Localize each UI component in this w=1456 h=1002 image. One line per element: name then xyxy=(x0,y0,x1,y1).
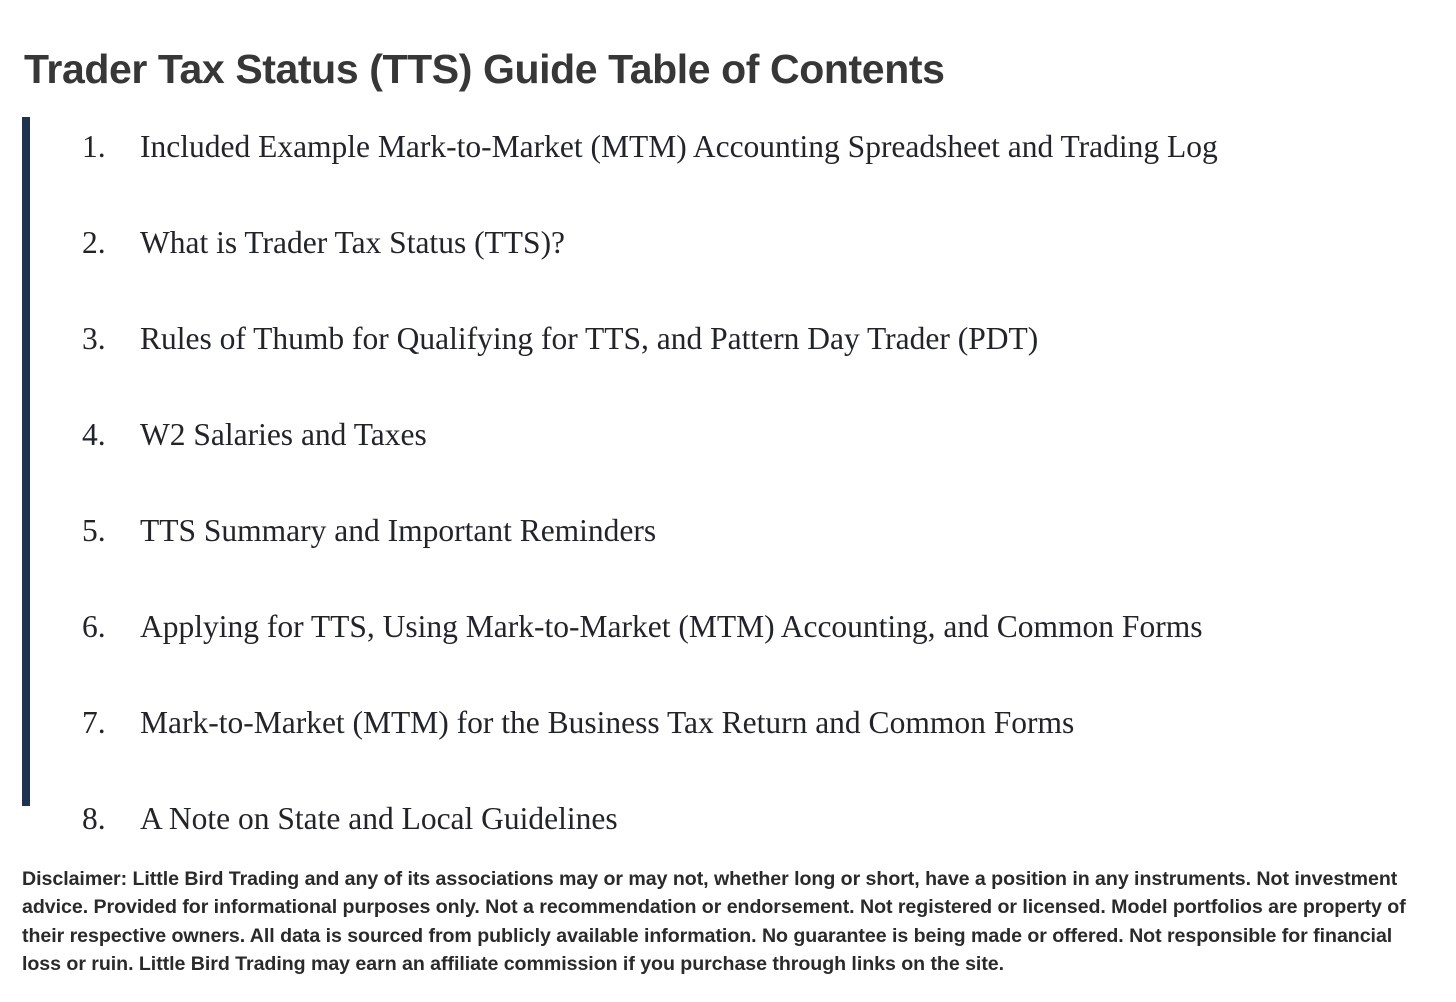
list-item-number: 3. xyxy=(82,309,120,369)
list-item-number: 6. xyxy=(82,597,120,657)
table-of-contents-list: 1. Included Example Mark-to-Market (MTM)… xyxy=(82,117,1412,849)
list-item[interactable]: 8. A Note on State and Local Guidelines xyxy=(82,789,1412,849)
table-of-contents-block: 1. Included Example Mark-to-Market (MTM)… xyxy=(0,117,1456,807)
list-item-number: 4. xyxy=(82,405,120,465)
list-item[interactable]: 7. Mark-to-Market (MTM) for the Business… xyxy=(82,693,1412,753)
disclaimer-text: Disclaimer: Little Bird Trading and any … xyxy=(22,865,1436,979)
list-item-label: Rules of Thumb for Qualifying for TTS, a… xyxy=(140,309,1412,369)
list-item-label: W2 Salaries and Taxes xyxy=(140,405,1412,465)
list-item-label: Included Example Mark-to-Market (MTM) Ac… xyxy=(140,117,1412,177)
list-item[interactable]: 3. Rules of Thumb for Qualifying for TTS… xyxy=(82,309,1412,369)
accent-bar xyxy=(22,117,30,806)
list-item-label: TTS Summary and Important Reminders xyxy=(140,501,1412,561)
list-item-number: 7. xyxy=(82,693,120,753)
list-item-label: Applying for TTS, Using Mark-to-Market (… xyxy=(140,597,1412,657)
list-item-number: 5. xyxy=(82,501,120,561)
list-item-label: A Note on State and Local Guidelines xyxy=(140,789,1412,849)
list-item[interactable]: 4. W2 Salaries and Taxes xyxy=(82,405,1412,465)
list-item[interactable]: 1. Included Example Mark-to-Market (MTM)… xyxy=(82,117,1412,177)
list-item-label: Mark-to-Market (MTM) for the Business Ta… xyxy=(140,693,1412,753)
list-item-number: 8. xyxy=(82,789,120,849)
list-item-number: 1. xyxy=(82,117,120,177)
page-title: Trader Tax Status (TTS) Guide Table of C… xyxy=(24,44,1424,94)
list-item-label: What is Trader Tax Status (TTS)? xyxy=(140,213,1412,273)
list-item[interactable]: 2. What is Trader Tax Status (TTS)? xyxy=(82,213,1412,273)
list-item-number: 2. xyxy=(82,213,120,273)
list-item[interactable]: 5. TTS Summary and Important Reminders xyxy=(82,501,1412,561)
list-item[interactable]: 6. Applying for TTS, Using Mark-to-Marke… xyxy=(82,597,1412,657)
document-page: Trader Tax Status (TTS) Guide Table of C… xyxy=(0,0,1456,1002)
